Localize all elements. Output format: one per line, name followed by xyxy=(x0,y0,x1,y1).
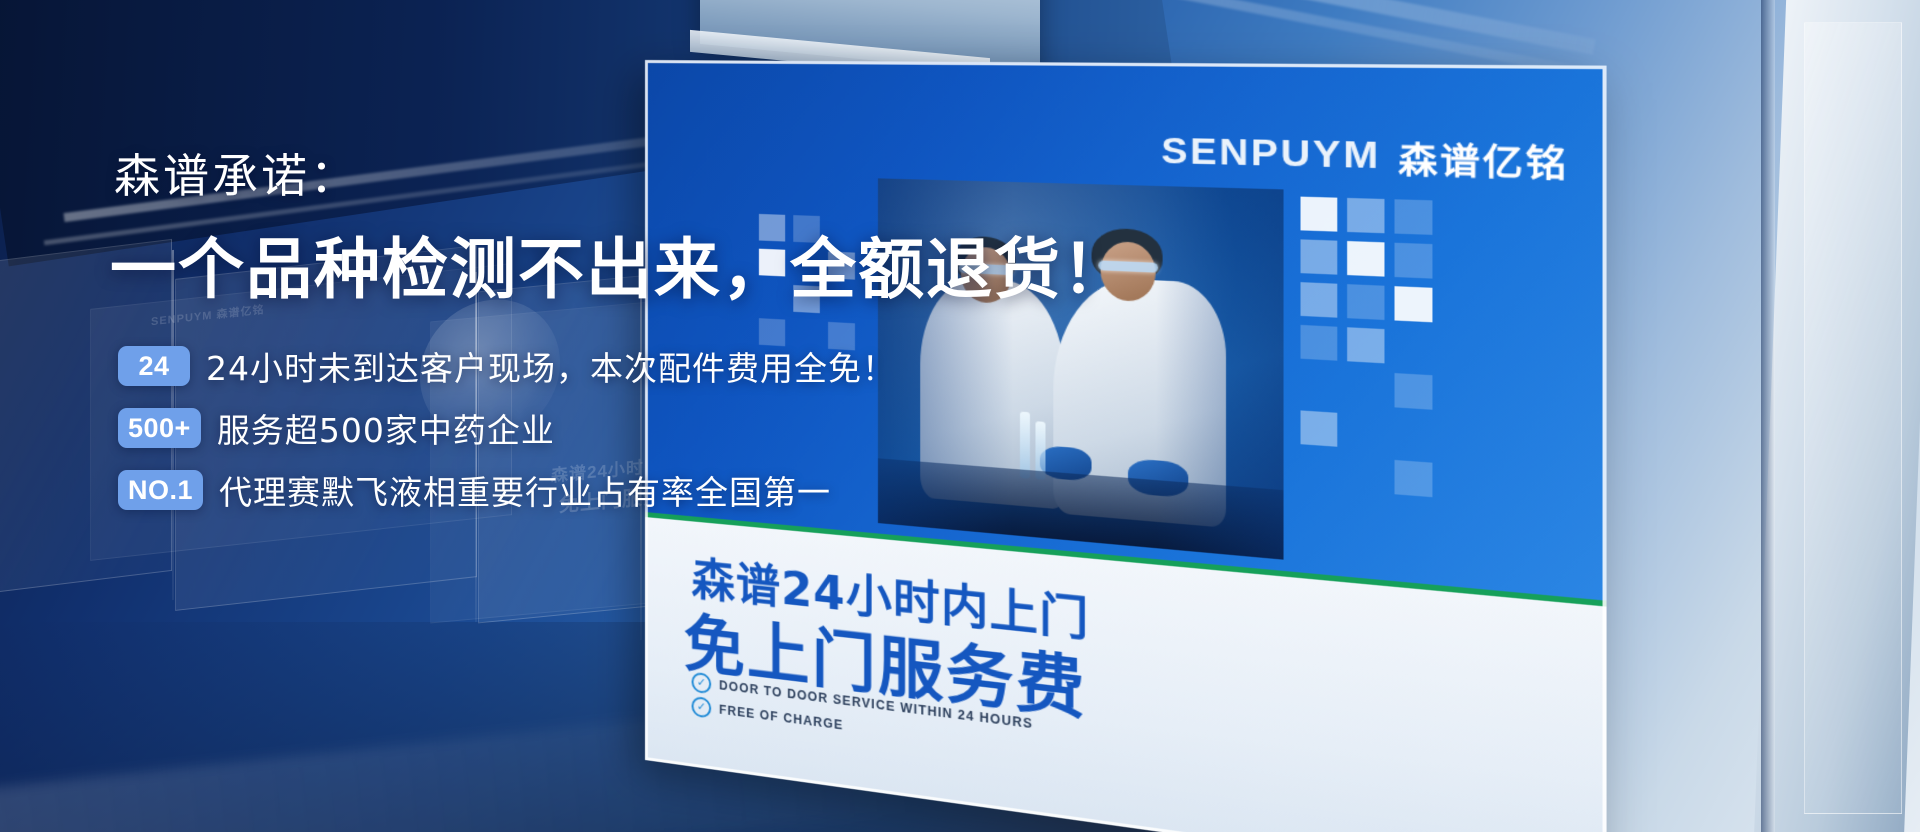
main-headline: 一个品种检测不出来，全额退货！ xyxy=(110,216,1130,312)
kicker-text: 森谱承诺： xyxy=(114,140,1130,206)
bullet-text: 24小时未到达客户现场，本次配件费用全免！ xyxy=(206,342,896,390)
bullet-item: 500+ 服务超500家中药企业 xyxy=(118,404,1130,452)
badge-no1: NO.1 xyxy=(118,470,203,510)
bullet-item: 24 24小时未到达客户现场，本次配件费用全免！ xyxy=(118,342,1130,390)
promise-copy-block: 森谱承诺： 一个品种检测不出来，全额退货！ 24 24小时未到达客户现场，本次配… xyxy=(110,140,1130,514)
bullet-text: 服务超500家中药企业 xyxy=(217,404,555,452)
badge-500plus: 500+ xyxy=(118,408,201,448)
bullet-item: NO.1 代理赛默飞液相重要行业占有率全国第一 xyxy=(118,466,1130,514)
right-column-inner xyxy=(1804,22,1902,814)
banner-stage: SENPUYM 森谱亿铭 森谱24小时内上门 免上门服务费 SENPUYM 森谱… xyxy=(0,0,1920,832)
right-column-edge xyxy=(1761,0,1775,832)
bullet-list: 24 24小时未到达客户现场，本次配件费用全免！ 500+ 服务超500家中药企… xyxy=(118,342,1130,514)
badge-24: 24 xyxy=(118,346,190,386)
bullet-text: 代理赛默飞液相重要行业占有率全国第一 xyxy=(219,466,831,514)
